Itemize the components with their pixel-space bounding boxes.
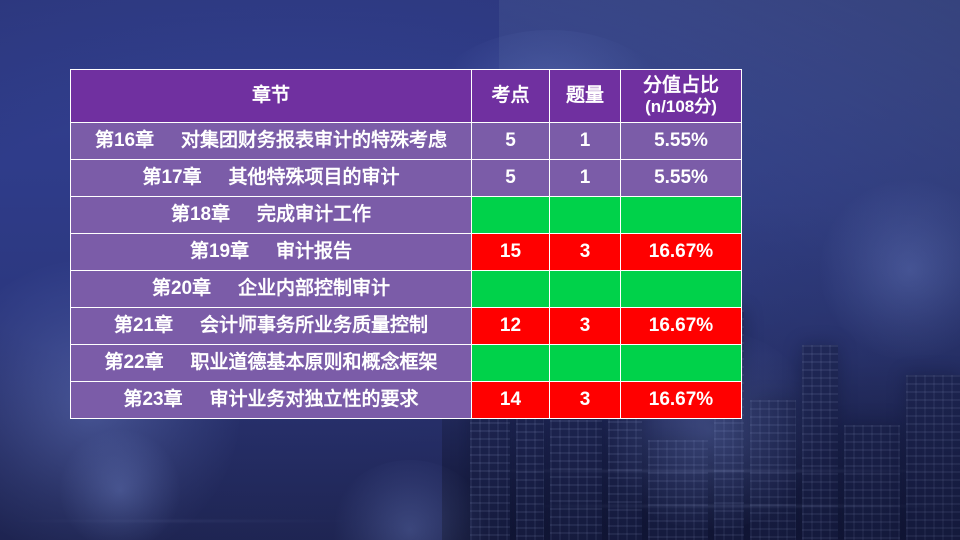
cell-chapter: 第19章审计报告 [71,234,472,271]
cell-chapter: 第23章审计业务对独立性的要求 [71,382,472,419]
cell-chapter: 第21章会计师事务所业务质量控制 [71,308,472,345]
column-header-question-count: 题量 [550,70,621,123]
chapter-title: 其他特殊项目的审计 [228,167,399,188]
chapter-title: 企业内部控制审计 [238,278,390,299]
cell-points: 14 [472,382,550,419]
table-body: 第16章对集团财务报表审计的特殊考虑515.55%第17章其他特殊项目的审计51… [71,123,742,419]
table-header: 章节 考点 题量 分值占比 (n/108分) [71,70,742,123]
cell-question-count [550,345,621,382]
cell-score-ratio: 5.55% [621,123,742,160]
chapter-title: 完成审计工作 [257,204,371,225]
cell-points: 5 [472,123,550,160]
skyline-building [906,375,960,540]
cell-points: 5 [472,160,550,197]
cell-points: 12 [472,308,550,345]
cell-question-count: 1 [550,160,621,197]
chapter-number: 第22章 [104,352,190,374]
skyline-building [550,420,602,540]
chapter-title: 职业道德基本原则和概念框架 [190,352,437,373]
cell-chapter: 第17章其他特殊项目的审计 [71,160,472,197]
slide-canvas: 章节 考点 题量 分值占比 (n/108分) 第16章对集团财务报表审计的特殊考… [0,0,960,540]
column-header-chapter: 章节 [71,70,472,123]
chapter-title: 会计师事务所业务质量控制 [200,315,428,336]
chapter-title: 审计报告 [276,241,352,262]
cell-score-ratio [621,345,742,382]
score-ratio-label-line2: (n/108分) [621,97,741,117]
cell-points: 15 [472,234,550,271]
cell-chapter: 第16章对集团财务报表审计的特殊考虑 [71,123,472,160]
column-header-points: 考点 [472,70,550,123]
table-row: 第21章会计师事务所业务质量控制12316.67% [71,308,742,345]
cell-question-count: 1 [550,123,621,160]
chapter-number: 第21章 [114,315,200,337]
cell-score-ratio: 5.55% [621,160,742,197]
cell-points [472,197,550,234]
cell-score-ratio: 16.67% [621,234,742,271]
exam-weighting-table: 章节 考点 题量 分值占比 (n/108分) 第16章对集团财务报表审计的特殊考… [70,69,737,419]
cell-question-count [550,197,621,234]
table-row: 第22章职业道德基本原则和概念框架 [71,345,742,382]
chapter-title: 对集团财务报表审计的特殊考虑 [181,130,447,151]
light-bloom [60,430,180,540]
cell-chapter: 第22章职业道德基本原则和概念框架 [71,345,472,382]
table-row: 第17章其他特殊项目的审计515.55% [71,160,742,197]
chapter-title: 审计业务对独立性的要求 [209,389,418,410]
chapter-number: 第20章 [152,278,238,300]
table-row: 第20章企业内部控制审计 [71,271,742,308]
cell-question-count: 3 [550,234,621,271]
cell-score-ratio: 16.67% [621,308,742,345]
cell-question-count: 3 [550,382,621,419]
skyline-building [844,425,900,540]
chapter-weight-table: 章节 考点 题量 分值占比 (n/108分) 第16章对集团财务报表审计的特殊考… [70,69,742,419]
column-header-score-ratio: 分值占比 (n/108分) [621,70,742,123]
table-row: 第19章审计报告15316.67% [71,234,742,271]
header-row: 章节 考点 题量 分值占比 (n/108分) [71,70,742,123]
chapter-number: 第17章 [142,167,228,189]
cell-question-count [550,271,621,308]
cell-score-ratio [621,271,742,308]
chapter-number: 第16章 [95,130,181,152]
cell-chapter: 第18章完成审计工作 [71,197,472,234]
chapter-number: 第19章 [190,241,276,263]
light-streak [0,520,360,522]
chapter-number: 第23章 [123,389,209,411]
light-streak [470,470,960,472]
light-streak [520,505,960,507]
table-row: 第16章对集团财务报表审计的特殊考虑515.55% [71,123,742,160]
cell-points [472,345,550,382]
cell-question-count: 3 [550,308,621,345]
table-row: 第18章完成审计工作 [71,197,742,234]
score-ratio-label-line1: 分值占比 [643,75,719,96]
cell-score-ratio: 16.67% [621,382,742,419]
chapter-number: 第18章 [171,204,257,226]
cell-chapter: 第20章企业内部控制审计 [71,271,472,308]
cell-points [472,271,550,308]
table-row: 第23章审计业务对独立性的要求14316.67% [71,382,742,419]
cell-score-ratio [621,197,742,234]
